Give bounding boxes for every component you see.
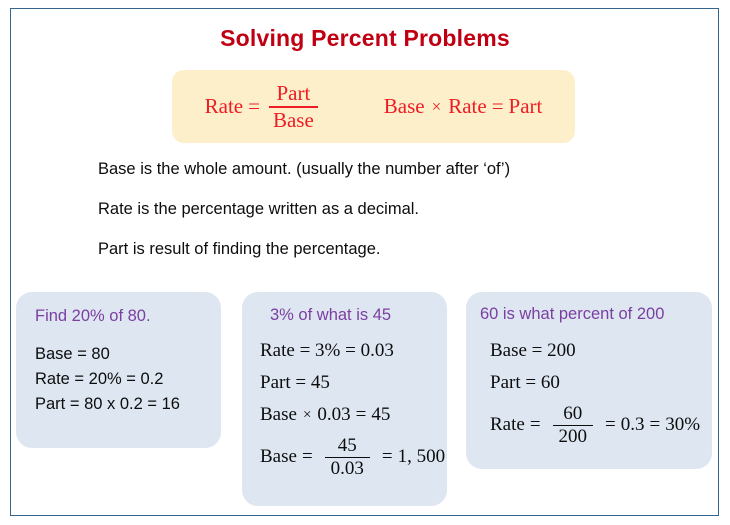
example-3-fraction-equals-2: = [600,414,621,436]
formula-rate-label-2: Rate [448,94,486,119]
example-3-fraction-result-percent: 30% [665,414,700,436]
formula-base-label: Base [384,94,425,119]
example-3-fraction: 60 200 [553,404,594,447]
formula-rate-equals: = [243,94,265,119]
example-2-base-label: Base [260,404,297,426]
example-1-body: Base = 80 Rate = 20% = 0.2 Part = 80 x 0… [35,345,180,420]
definitions-list: Base is the whole amount. (usually the n… [98,160,658,280]
formula-part-label: Part [509,94,543,119]
example-3-fraction-result: 0.3 [621,414,645,436]
example-3-line-base: Base = 200 [490,340,700,362]
example-3-body: Base = 200 Part = 60 Rate = 60 200 = 0.3… [490,340,700,449]
example-1-line-base: Base = 80 [35,345,180,364]
example-card-3: 60 is what percent of 200 Base = 200 Par… [466,292,712,469]
example-3-heading: 60 is what percent of 200 [480,305,664,324]
formula-banner: Rate = Part Base Base × Rate = Part [172,70,575,143]
example-2-fraction: 45 0.03 [325,436,370,479]
example-2-line-base-fraction: Base = 45 0.03 = 1, 500 [260,436,445,479]
example-1-heading: Find 20% of 80. [35,307,151,326]
page-title: Solving Percent Problems [0,25,730,52]
example-card-1: Find 20% of 80. Base = 80 Rate = 20% = 0… [16,292,221,448]
example-2-fraction-equals: = [297,446,318,468]
definition-part: Part is result of finding the percentage… [98,240,658,259]
example-3-fraction-numerator: 60 [557,404,588,425]
example-3-fraction-label: Rate [490,414,525,436]
example-2-rate-value: 0.03 [317,404,350,426]
formula-banner-row: Rate = Part Base Base × Rate = Part [172,70,575,143]
example-2-body: Rate = 3% = 0.03 Part = 45 Base × 0.03 =… [260,340,445,481]
formula-rate-label: Rate [205,94,243,119]
example-2-line-part: Part = 45 [260,372,445,394]
example-2-part-value: 45 [371,404,390,426]
example-card-2: 3% of what is 45 Rate = 3% = 0.03 Part =… [242,292,447,506]
multiply-icon: × [425,97,449,117]
formula-fraction-denominator: Base [269,106,318,131]
definition-rate: Rate is the percentage written as a deci… [98,200,658,219]
example-2-line-base-times: Base × 0.03 = 45 [260,404,445,426]
example-1-line-rate: Rate = 20% = 0.2 [35,370,180,389]
example-2-fraction-result: 1, 500 [398,446,446,468]
formula-part-equation: Base × Rate = Part [384,94,543,119]
worksheet-page: Solving Percent Problems Rate = Part Bas… [0,0,730,525]
example-2-line-rate: Rate = 3% = 0.03 [260,340,445,362]
example-2-fraction-numerator: 45 [332,436,363,457]
example-2-fraction-equals-2: = [377,446,398,468]
example-2-fraction-denominator: 0.03 [325,457,370,479]
example-2-heading: 3% of what is 45 [270,306,391,325]
example-3-fraction-equals: = [525,414,546,436]
multiply-icon: × [297,407,317,424]
example-2-equals: = [351,404,372,426]
formula-equals-2: = [487,94,509,119]
example-3-fraction-denominator: 200 [553,425,594,447]
example-2-fraction-label: Base [260,446,297,468]
formula-rate-equation: Rate = Part Base [205,82,322,131]
example-3-line-part: Part = 60 [490,372,700,394]
formula-fraction-numerator: Part [272,82,314,105]
example-1-line-part: Part = 80 x 0.2 = 16 [35,395,180,414]
formula-part-over-base-fraction: Part Base [269,82,318,131]
example-3-fraction-equals-3: = [645,414,666,436]
definition-base: Base is the whole amount. (usually the n… [98,160,658,179]
example-3-line-rate-fraction: Rate = 60 200 = 0.3 = 30% [490,404,700,447]
